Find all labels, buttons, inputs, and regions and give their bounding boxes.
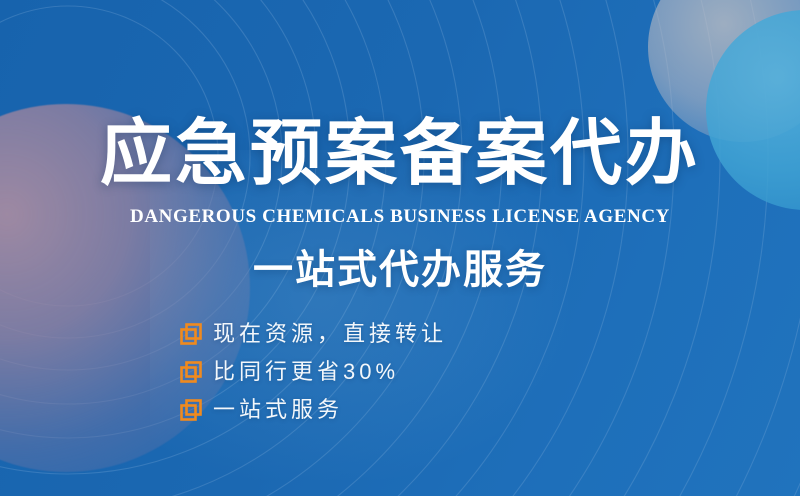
list-item: 一站式服务 [180,396,447,423]
overlapping-squares-icon [180,399,202,421]
list-item-label: 一站式服务 [213,396,343,423]
list-item-label: 现在资源，直接转让 [213,320,447,347]
list-item: 比同行更省30% [180,358,447,385]
overlapping-squares-icon [180,323,202,345]
english-subtitle: DANGEROUS CHEMICALS BUSINESS LICENSE AGE… [0,206,800,228]
overlapping-squares-icon [180,361,202,383]
service-subtitle: 一站式代办服务 [0,245,800,295]
list-item: 现在资源，直接转让 [180,320,447,347]
page-title: 应急预案备案代办 [0,112,800,196]
banner-content: 应急预案备案代办 DANGEROUS CHEMICALS BUSINESS LI… [0,0,800,496]
promo-banner: 应急预案备案代办 DANGEROUS CHEMICALS BUSINESS LI… [0,0,800,496]
feature-list: 现在资源，直接转让 比同行更省30% 一站式 [180,320,447,423]
list-item-label: 比同行更省30% [213,358,399,385]
